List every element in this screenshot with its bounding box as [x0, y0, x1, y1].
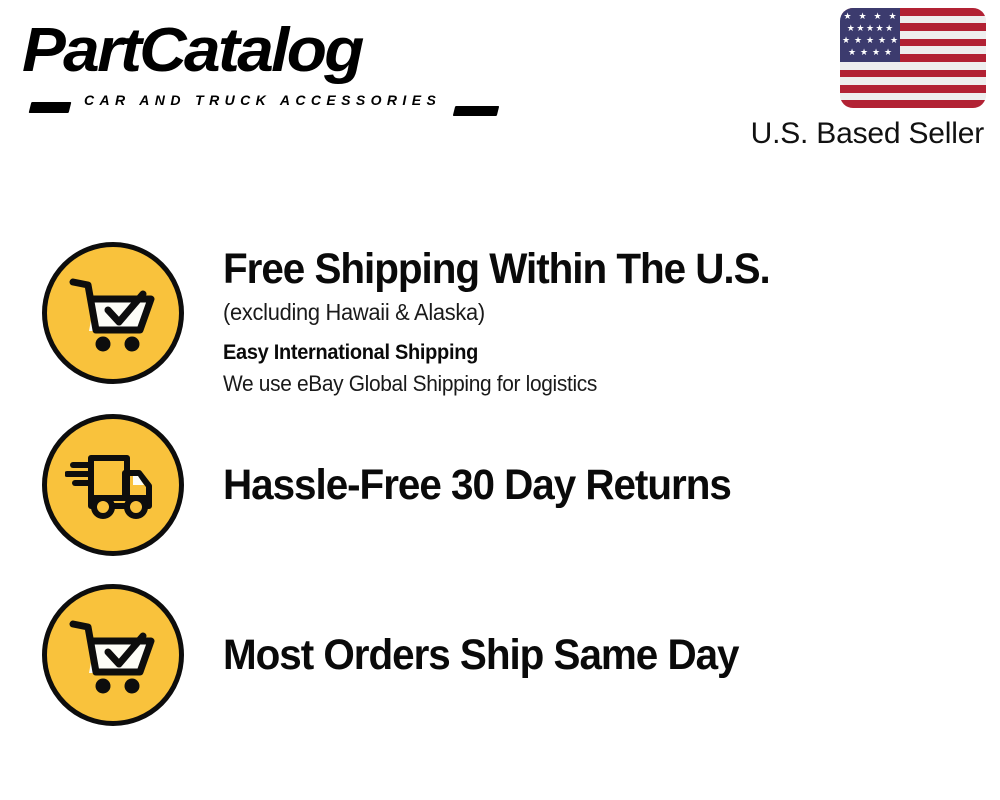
- flag-star-row: ★★★★★: [840, 36, 900, 45]
- us-based-seller-label: U.S. Based Seller: [706, 117, 984, 150]
- star-icon: ★: [854, 36, 862, 45]
- star-icon: ★: [872, 48, 880, 57]
- feature-subheading: Easy International Shipping: [223, 341, 961, 365]
- feature-title: Hassle-Free 30 Day Returns: [223, 462, 731, 508]
- feature-text-block: Free Shipping Within The U.S. (excluding…: [223, 242, 1000, 397]
- star-icon: ★: [885, 24, 893, 33]
- logo-swash-right: [453, 106, 499, 116]
- feature-text-block: Most Orders Ship Same Day: [223, 584, 1000, 726]
- star-icon: ★: [878, 36, 886, 45]
- brand-tagline: CAR AND TRUCK ACCESSORIES: [84, 92, 441, 108]
- page-header: PartCatalog CAR AND TRUCK ACCESSORIES: [0, 0, 1000, 170]
- star-icon: ★: [890, 36, 898, 45]
- brand-wordmark: PartCatalog: [22, 18, 362, 83]
- feature-note: (excluding Hawaii & Alaska): [223, 299, 961, 326]
- star-icon: ★: [888, 12, 896, 21]
- brand-logo[interactable]: PartCatalog CAR AND TRUCK ACCESSORIES: [22, 24, 492, 116]
- feature-description: We use eBay Global Shipping for logistic…: [223, 371, 961, 397]
- star-icon: ★: [856, 24, 864, 33]
- us-based-seller-badge: ★★★★ ★★★★★ ★★★★★ ★★★★ U.S. Based Seller: [706, 8, 986, 150]
- feature-row: Hassle-Free 30 Day Returns: [0, 414, 1000, 556]
- logo-swash-left: [29, 102, 72, 113]
- star-icon: ★: [858, 12, 866, 21]
- shopping-cart-check-icon: [42, 584, 184, 726]
- feature-row: Most Orders Ship Same Day: [0, 584, 1000, 726]
- star-icon: ★: [866, 36, 874, 45]
- star-icon: ★: [860, 48, 868, 57]
- star-icon: ★: [847, 24, 855, 33]
- flag-star-row: ★★★★: [840, 12, 900, 21]
- us-flag-icon: ★★★★ ★★★★★ ★★★★★ ★★★★: [840, 8, 986, 108]
- feature-title: Free Shipping Within The U.S.: [223, 246, 953, 292]
- star-icon: ★: [848, 48, 856, 57]
- feature-title: Most Orders Ship Same Day: [223, 632, 739, 678]
- feature-row: Free Shipping Within The U.S. (excluding…: [0, 242, 1000, 397]
- star-icon: ★: [866, 24, 874, 33]
- flag-star-row: ★★★★★: [840, 24, 900, 33]
- delivery-truck-icon: [42, 414, 184, 556]
- flag-star-row: ★★★★: [840, 48, 900, 57]
- shopping-cart-check-icon: [42, 242, 184, 384]
- star-icon: ★: [843, 12, 851, 21]
- flag-canton: ★★★★ ★★★★★ ★★★★★ ★★★★: [840, 8, 900, 62]
- star-icon: ★: [876, 24, 884, 33]
- star-icon: ★: [873, 12, 881, 21]
- star-icon: ★: [884, 48, 892, 57]
- feature-text-block: Hassle-Free 30 Day Returns: [223, 414, 1000, 556]
- star-icon: ★: [842, 36, 850, 45]
